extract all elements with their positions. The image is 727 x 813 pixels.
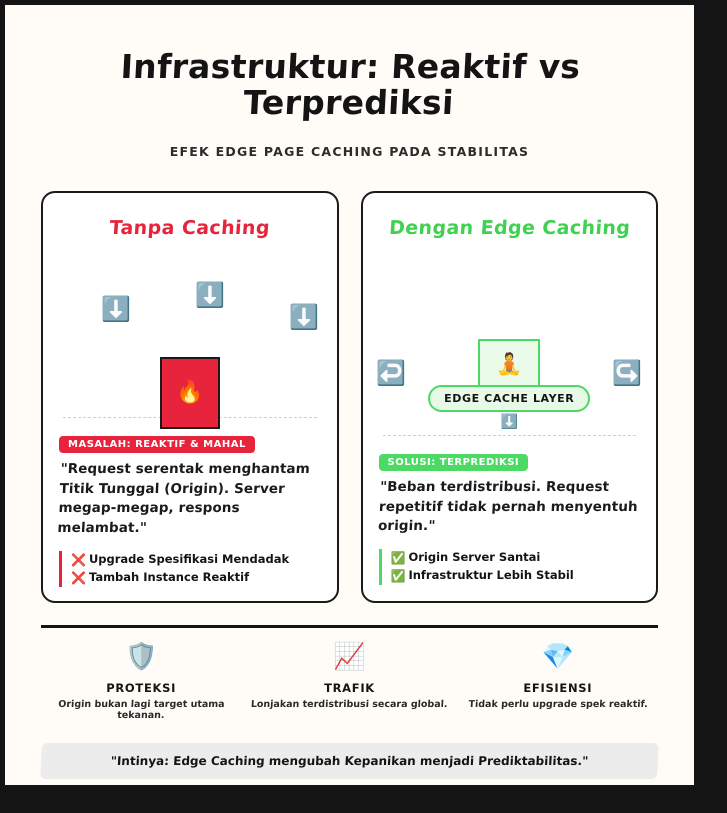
solution-badge: SOLUSI: TERPREDIKSI bbox=[379, 454, 529, 471]
infographic-page: Infrastruktur: Reaktif vs Terprediksi EF… bbox=[0, 0, 699, 790]
arrow-down-icon: ⬇️ bbox=[501, 415, 518, 429]
header: Infrastruktur: Reaktif vs Terprediksi EF… bbox=[37, 5, 662, 159]
list-item-label: Upgrade Spesifikasi Mendadak bbox=[89, 551, 289, 569]
edge-cache-node: 🧘 bbox=[478, 339, 540, 391]
benefit-desc: Tidak perlu upgrade spek reaktif. bbox=[453, 699, 662, 710]
card-dengan-edge-caching[interactable]: Dengan Edge Caching ↩️ 🧘 EDGE CACHE LAYE… bbox=[361, 191, 659, 603]
list-item: ✅ Infrastruktur Lebih Stabil bbox=[391, 567, 641, 585]
diagram-terprediksi: ↩️ 🧘 EDGE CACHE LAYER ⬇️ ↪️ bbox=[379, 239, 641, 435]
benefit-desc: Origin bukan lagi target utama tekanan. bbox=[36, 699, 245, 721]
problem-badge: MASALAH: REAKTIF & MAHAL bbox=[59, 436, 255, 453]
arrow-curve-right-icon: ↪️ bbox=[612, 361, 642, 385]
solution-quote: "Beban terdistribusi. Request repetitif … bbox=[377, 478, 642, 537]
list-item: ❌ Tambah Instance Reaktif bbox=[71, 569, 321, 587]
benefit-efisiensi: 💎 EFISIENSI Tidak perlu upgrade spek rea… bbox=[454, 644, 662, 721]
benefit-title: EFISIENSI bbox=[454, 681, 662, 695]
arrow-curve-left-icon: ↩️ bbox=[376, 361, 406, 385]
section-divider bbox=[41, 625, 658, 628]
list-item-label: Tambah Instance Reaktif bbox=[89, 569, 249, 587]
list-item-label: Infrastruktur Lebih Stabil bbox=[408, 567, 573, 585]
benefits-row: 🛡️ PROTEKSI Origin bukan lagi target uta… bbox=[37, 644, 662, 721]
arrow-down-icon: ⬇️ bbox=[289, 305, 319, 329]
card-divider bbox=[383, 435, 637, 436]
cross-mark-icon: ❌ bbox=[71, 572, 86, 584]
arrow-down-icon: ⬇️ bbox=[195, 283, 225, 307]
benefit-desc: Lonjakan terdistribusi secara global. bbox=[245, 699, 454, 710]
benefit-title: TRAFIK bbox=[245, 681, 453, 695]
check-mark-icon: ✅ bbox=[391, 552, 406, 564]
problem-quote: "Request serentak menghantam Titik Tungg… bbox=[57, 460, 323, 538]
list-item: ❌ Upgrade Spesifikasi Mendadak bbox=[71, 551, 321, 569]
page-subtitle: EFEK EDGE PAGE CACHING PADA STABILITAS bbox=[37, 144, 662, 159]
benefit-trafik: 📈 TRAFIK Lonjakan terdistribusi secara g… bbox=[245, 644, 453, 721]
card-tanpa-caching[interactable]: Tanpa Caching ⬇️ ⬇️ ⬇️ 🔥 MASALAH: REAKTI… bbox=[41, 191, 339, 603]
chart-increasing-icon: 📈 bbox=[245, 644, 453, 670]
benefit-proteksi: 🛡️ PROTEKSI Origin bukan lagi target uta… bbox=[37, 644, 245, 721]
check-mark-icon: ✅ bbox=[391, 570, 406, 582]
benefit-title: PROTEKSI bbox=[37, 681, 245, 695]
list-item: ✅ Origin Server Santai bbox=[391, 549, 641, 567]
diagram-reaktif: ⬇️ ⬇️ ⬇️ 🔥 bbox=[59, 239, 321, 417]
gem-icon: 💎 bbox=[454, 644, 662, 670]
solution-bullets: ✅ Origin Server Santai ✅ Infrastruktur L… bbox=[379, 549, 641, 585]
cross-mark-icon: ❌ bbox=[71, 554, 86, 566]
comparison-cards: Tanpa Caching ⬇️ ⬇️ ⬇️ 🔥 MASALAH: REAKTI… bbox=[37, 191, 662, 603]
footer-banner: "Intinya: Edge Caching mengubah Kepanika… bbox=[40, 743, 659, 779]
shield-icon: 🛡️ bbox=[37, 644, 245, 670]
edge-cache-layer-label: EDGE CACHE LAYER bbox=[428, 385, 590, 412]
arrow-down-icon: ⬇️ bbox=[101, 297, 131, 321]
origin-server-node: 🔥 bbox=[160, 357, 220, 429]
card-title-tanpa-caching: Tanpa Caching bbox=[58, 217, 321, 239]
meditation-icon: 🧘 bbox=[496, 354, 522, 375]
card-title-dengan-edge-caching: Dengan Edge Caching bbox=[378, 217, 641, 239]
problem-bullets: ❌ Upgrade Spesifikasi Mendadak ❌ Tambah … bbox=[59, 551, 321, 587]
list-item-label: Origin Server Santai bbox=[408, 549, 540, 567]
page-title: Infrastruktur: Reaktif vs Terprediksi bbox=[35, 49, 664, 122]
fire-icon: 🔥 bbox=[176, 382, 203, 404]
